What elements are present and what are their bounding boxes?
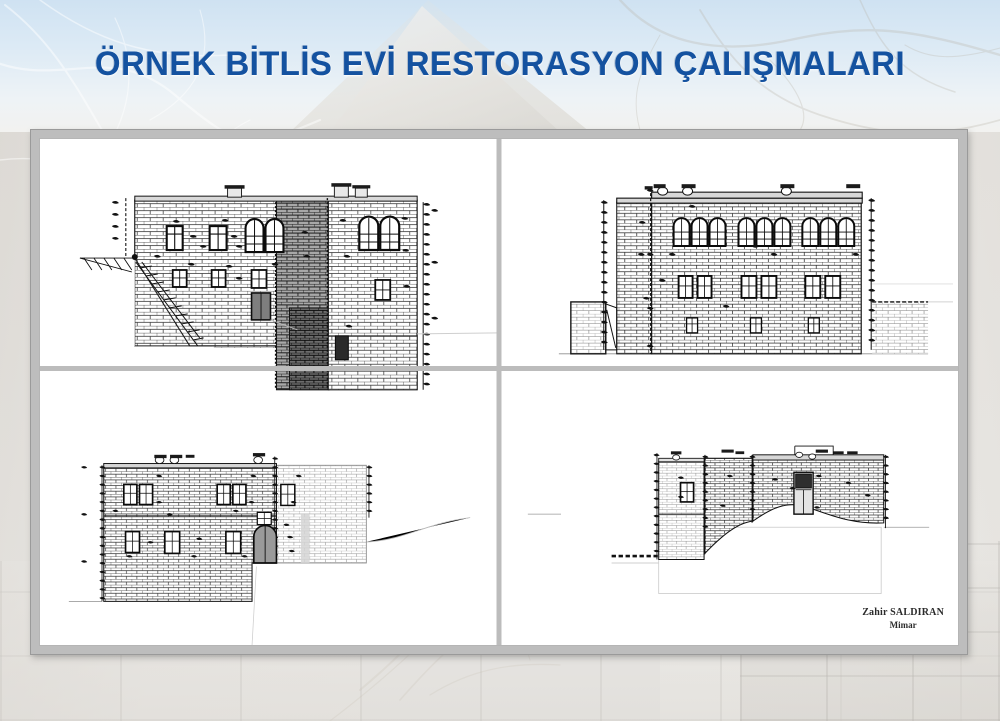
elevation-north-drawing [40,139,499,392]
drawing-board-frame: Zahir SALDIRAN Mimar [30,129,968,655]
drawing-cell-top-right[interactable] [499,139,958,392]
architect-signature: Zahir SALDIRAN Mimar [862,607,944,631]
elevation-main-facade-drawing [499,139,958,392]
drawing-cell-bottom-left[interactable] [40,392,499,645]
drawing-sheet: Zahir SALDIRAN Mimar [39,138,959,646]
drawing-cell-top-left[interactable] [40,139,499,392]
slide-title: ÖRNEK BİTLİS EVİ RESTORASYON ÇALIŞMALARI [15,45,985,84]
architect-role: Mimar [862,620,944,631]
elevation-south-drawing [40,392,499,645]
architect-name: Zahir SALDIRAN [862,607,944,620]
drawing-cell-bottom-right[interactable]: Zahir SALDIRAN Mimar [499,392,958,645]
presentation-slide: ÖRNEK BİTLİS EVİ RESTORASYON ÇALIŞMALARI [0,0,1000,721]
